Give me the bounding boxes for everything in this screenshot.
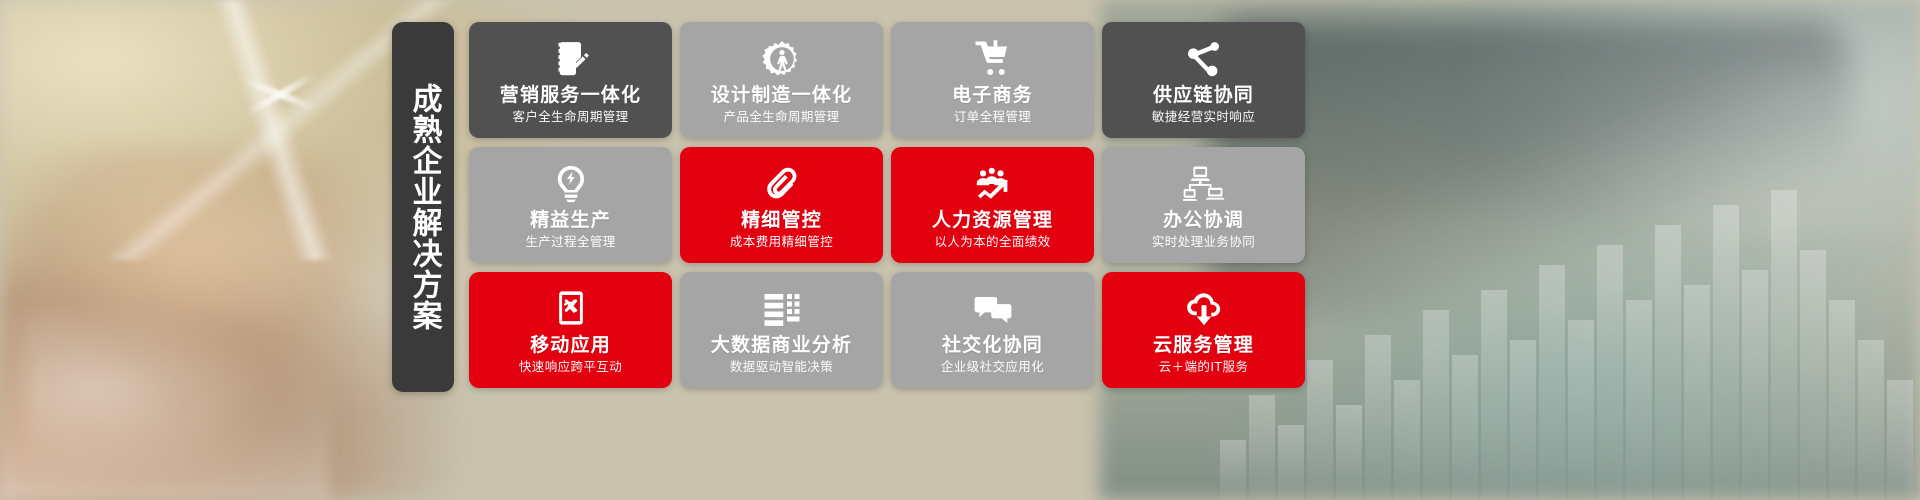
card-title: 精细管控 bbox=[741, 210, 822, 231]
solution-card-lean-production[interactable]: 精益生产生产过程全管理 bbox=[469, 147, 672, 263]
vertical-title-panel: 成熟企业解决方案 bbox=[392, 22, 454, 392]
solution-card-grid: 营销服务一体化客户全生命周期管理设计制造一体化产品全生命周期管理电子商务订单全程… bbox=[469, 22, 1305, 388]
solution-card-cloud-service-management[interactable]: 云服务管理云＋端的IT服务 bbox=[1102, 272, 1305, 388]
chat-bubbles-icon bbox=[972, 287, 1014, 329]
card-subtitle: 敏捷经营实时响应 bbox=[1152, 110, 1255, 124]
solution-card-mobile-application[interactable]: 移动应用快速响应跨平互动 bbox=[469, 272, 672, 388]
page-title: 成熟企业解决方案 bbox=[408, 83, 439, 331]
card-title: 大数据商业分析 bbox=[711, 335, 852, 356]
card-subtitle: 订单全程管理 bbox=[954, 110, 1031, 124]
card-subtitle: 生产过程全管理 bbox=[525, 235, 615, 249]
people-growth-arrow-icon bbox=[972, 162, 1014, 204]
card-title: 办公协调 bbox=[1163, 210, 1244, 231]
data-server-chart-icon bbox=[762, 287, 802, 329]
card-title: 供应链协同 bbox=[1153, 85, 1254, 106]
card-title: 移动应用 bbox=[530, 335, 611, 356]
card-subtitle: 产品全生命周期管理 bbox=[723, 110, 839, 124]
solution-card-human-resource-management[interactable]: 人力资源管理以人为本的全面绩效 bbox=[891, 147, 1094, 263]
card-subtitle: 快速响应跨平互动 bbox=[519, 360, 622, 374]
card-title: 云服务管理 bbox=[1153, 335, 1254, 356]
card-title: 电子商务 bbox=[952, 85, 1033, 106]
card-subtitle: 数据驱动智能决策 bbox=[730, 360, 833, 374]
paperclip-link-icon bbox=[762, 162, 802, 204]
card-subtitle: 成本费用精细管控 bbox=[730, 235, 833, 249]
notebook-pen-icon bbox=[551, 37, 591, 79]
solution-card-office-coordination[interactable]: 办公协调实时处理业务协同 bbox=[1102, 147, 1305, 263]
banner-root: 成熟企业解决方案 营销服务一体化客户全生命周期管理设计制造一体化产品全生命周期管… bbox=[0, 0, 1920, 500]
card-title: 营销服务一体化 bbox=[500, 85, 641, 106]
solution-card-big-data-business-analysis[interactable]: 大数据商业分析数据驱动智能决策 bbox=[680, 272, 883, 388]
solution-card-marketing-service-integration[interactable]: 营销服务一体化客户全生命周期管理 bbox=[469, 22, 672, 138]
gear-person-icon bbox=[762, 37, 802, 79]
card-title: 精益生产 bbox=[530, 210, 611, 231]
solution-card-e-commerce[interactable]: 电子商务订单全程管理 bbox=[891, 22, 1094, 138]
card-subtitle: 云＋端的IT服务 bbox=[1159, 360, 1249, 374]
solution-card-design-manufacturing-integration[interactable]: 设计制造一体化产品全生命周期管理 bbox=[680, 22, 883, 138]
card-subtitle: 企业级社交应用化 bbox=[941, 360, 1044, 374]
cloud-download-icon bbox=[1183, 287, 1225, 329]
card-subtitle: 以人为本的全面绩效 bbox=[934, 235, 1050, 249]
card-title: 设计制造一体化 bbox=[711, 85, 852, 106]
solution-card-fine-grained-control[interactable]: 精细管控成本费用精细管控 bbox=[680, 147, 883, 263]
solution-card-social-collaboration[interactable]: 社交化协同企业级社交应用化 bbox=[891, 272, 1094, 388]
network-nodes-icon bbox=[1184, 37, 1224, 79]
card-title: 社交化协同 bbox=[942, 335, 1043, 356]
card-subtitle: 客户全生命周期管理 bbox=[512, 110, 628, 124]
lightbulb-bolt-icon bbox=[551, 162, 591, 204]
solution-card-supply-chain-collaboration[interactable]: 供应链协同敏捷经营实时响应 bbox=[1102, 22, 1305, 138]
banner-content: 成熟企业解决方案 营销服务一体化客户全生命周期管理设计制造一体化产品全生命周期管… bbox=[0, 0, 1920, 500]
shopping-cart-download-icon bbox=[973, 37, 1013, 79]
mobile-phone-signal-icon bbox=[552, 287, 590, 329]
networked-computers-icon bbox=[1183, 162, 1225, 204]
card-title: 人力资源管理 bbox=[932, 210, 1053, 231]
card-subtitle: 实时处理业务协同 bbox=[1152, 235, 1255, 249]
